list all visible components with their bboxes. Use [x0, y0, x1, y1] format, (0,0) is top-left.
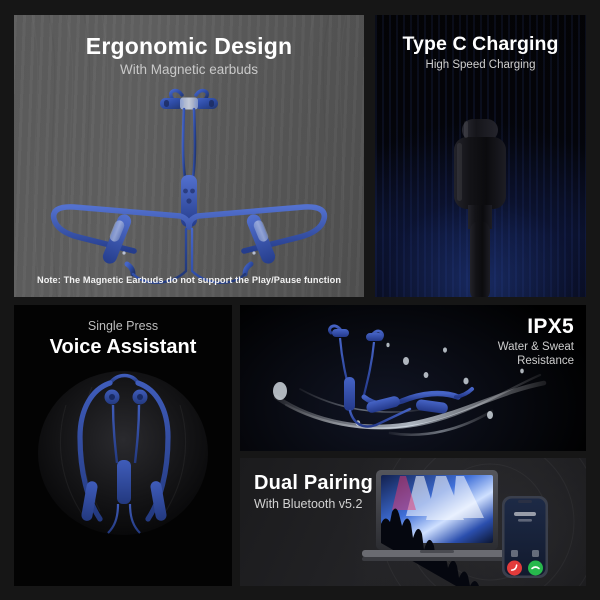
neckband-earphones-icon: [14, 15, 364, 297]
smartphone-incoming-call-icon: [240, 458, 586, 586]
panel-dual-pairing: Dual Pairing With Bluetooth v5.2: [240, 458, 586, 586]
panel-ipx5-subtitle-line2: Resistance: [517, 355, 574, 367]
caller-status-placeholder: [518, 519, 532, 522]
panel-ergonomic-design: Ergonomic Design With Magnetic earbuds: [14, 15, 364, 297]
usb-type-c-cable-icon: [375, 15, 586, 297]
product-feature-collage: Ergonomic Design With Magnetic earbuds: [0, 0, 600, 600]
panel-ipx5-subtitle: Water & Sweat Resistance: [498, 341, 574, 368]
panel-ipx5-subtitle-line1: Water & Sweat: [498, 341, 574, 353]
call-decline-icon: [507, 561, 522, 576]
panel-ipx5-title: IPX5: [527, 315, 574, 339]
call-accept-icon: [528, 561, 543, 576]
panel-type-c-charging: Type C Charging High Speed Charging: [375, 15, 586, 297]
caller-name-placeholder: [514, 512, 536, 516]
panel-ipx5-water-resistance: IPX5 Water & Sweat Resistance: [240, 305, 586, 451]
panel-ergonomic-note: Note: The Magnetic Earbuds do not suppor…: [14, 275, 364, 285]
panel-voice-assistant: Single Press Voice Assistant: [14, 305, 232, 586]
neckband-earphones-icon: [14, 305, 232, 586]
